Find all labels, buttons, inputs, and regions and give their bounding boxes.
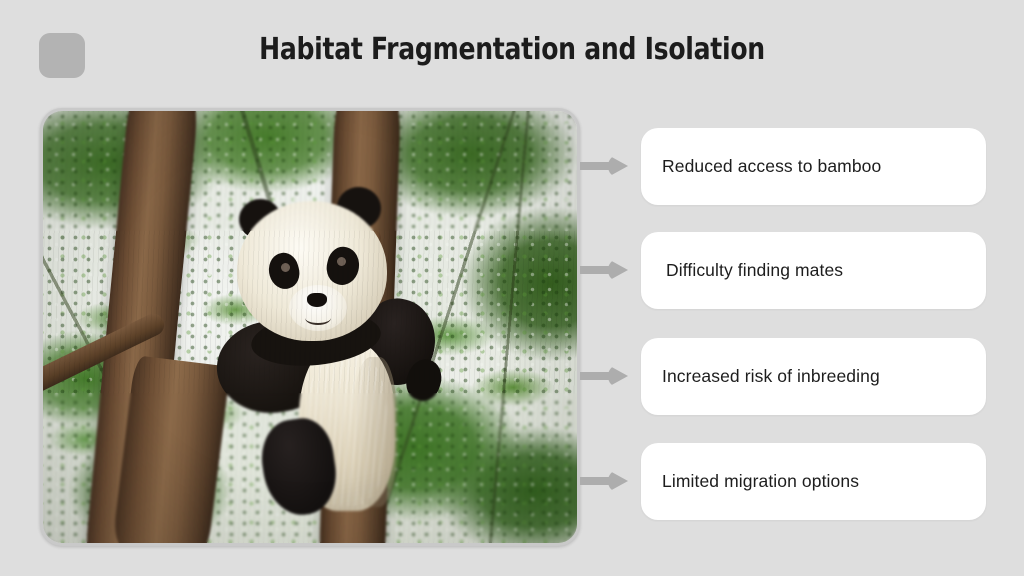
arrow-head-icon xyxy=(608,259,628,281)
slide-canvas: Habitat Fragmentation and Isolation xyxy=(0,0,1024,576)
arrow-head-icon xyxy=(608,155,628,177)
arrow-shaft-icon xyxy=(580,162,610,170)
bullet-card-label: Limited migration options xyxy=(641,471,859,492)
arrow-shaft-icon xyxy=(580,477,610,485)
bullet-card-3[interactable]: Increased risk of inbreeding xyxy=(641,338,986,415)
bullet-card-2[interactable]: Difficulty finding mates xyxy=(641,232,986,309)
connector-arrow-3 xyxy=(580,365,628,387)
photo-vignette xyxy=(43,111,577,543)
panda-photo-frame xyxy=(40,108,580,546)
bullet-card-4[interactable]: Limited migration options xyxy=(641,443,986,520)
bullet-card-1[interactable]: Reduced access to bamboo xyxy=(641,128,986,205)
bullet-card-label: Increased risk of inbreeding xyxy=(641,366,880,387)
arrow-head-icon xyxy=(608,470,628,492)
arrow-shaft-icon xyxy=(580,266,610,274)
connector-arrow-2 xyxy=(580,259,628,281)
connector-arrow-1 xyxy=(580,155,628,177)
panda-photo xyxy=(43,111,577,543)
connector-arrow-4 xyxy=(580,470,628,492)
bullet-card-label: Difficulty finding mates xyxy=(641,260,843,281)
page-title: Habitat Fragmentation and Isolation xyxy=(36,32,988,67)
arrow-shaft-icon xyxy=(580,372,610,380)
bullet-card-label: Reduced access to bamboo xyxy=(641,156,881,177)
arrow-head-icon xyxy=(608,365,628,387)
